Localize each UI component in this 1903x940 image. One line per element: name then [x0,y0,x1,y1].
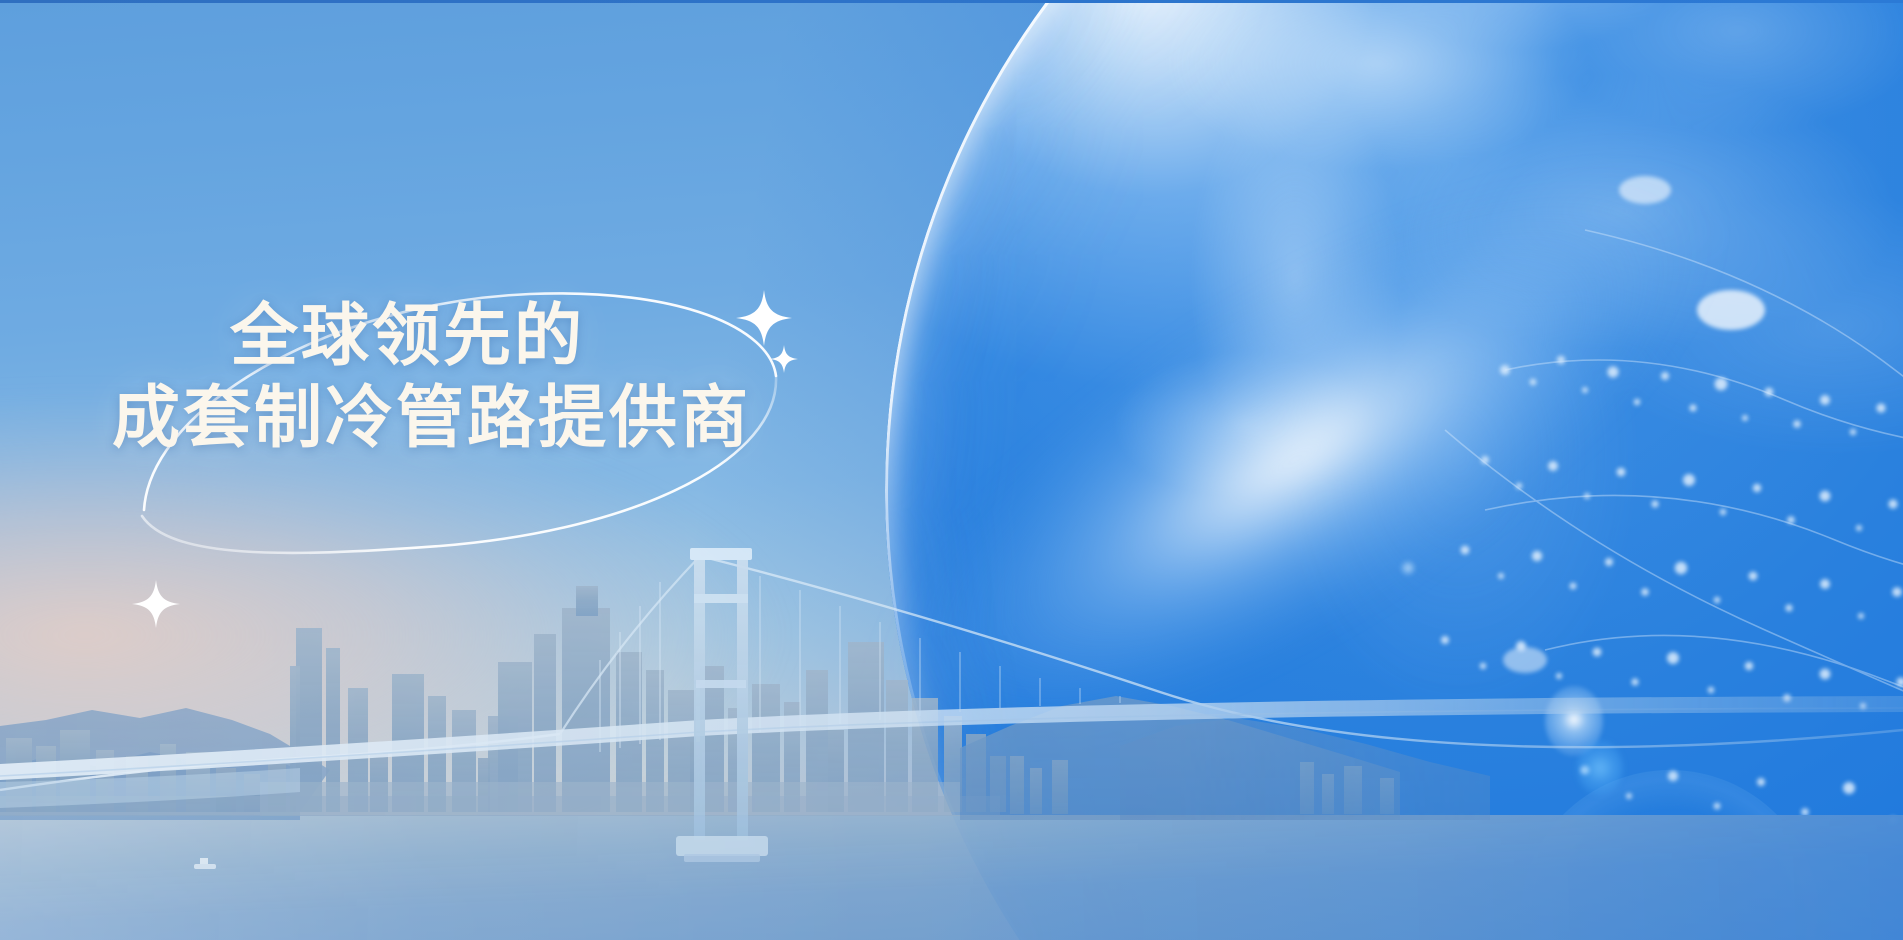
headline-line-2: 成套制冷管路提供商 [112,378,872,460]
hero-banner: 全球领先的 成套制冷管路提供商 [0,0,1903,940]
headline-line-1: 全球领先的 [230,296,872,378]
boat [194,858,216,869]
top-accent-rule [0,0,1903,3]
city-scene [0,520,1903,940]
hero-copy: 全球领先的 成套制冷管路提供商 [112,296,872,459]
